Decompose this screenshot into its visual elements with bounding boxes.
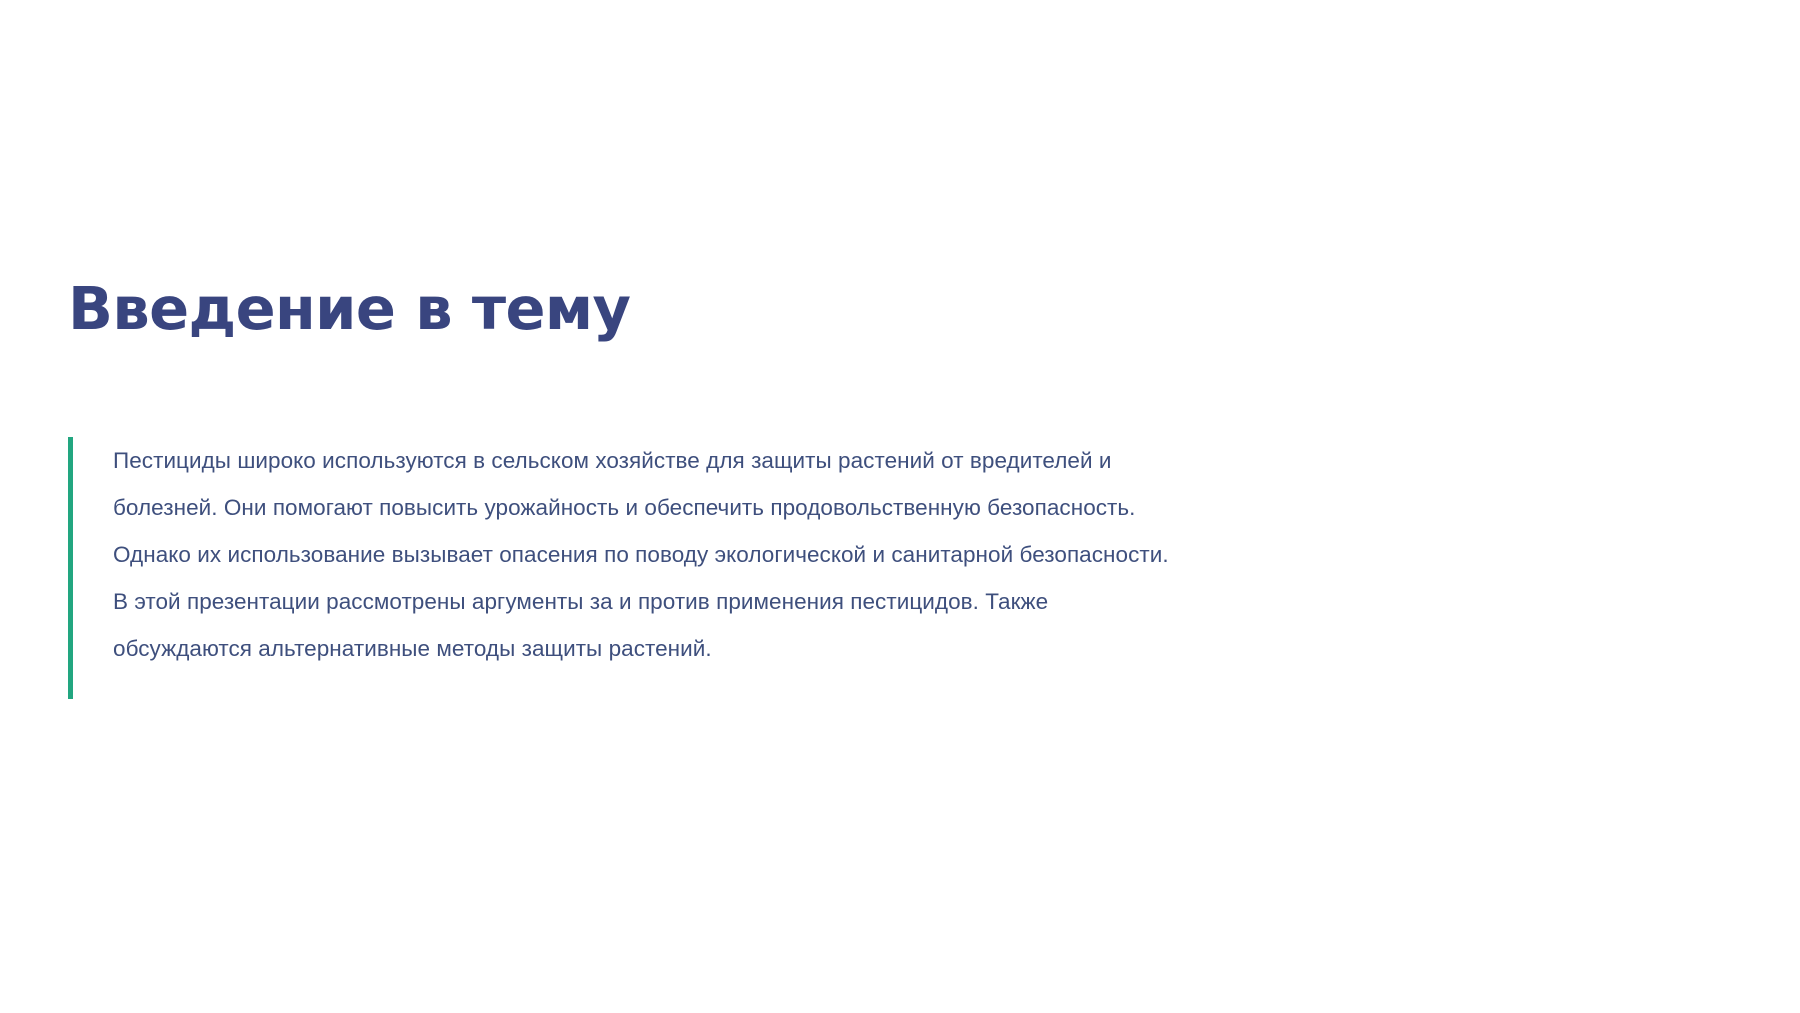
body-block: Пестициды широко используются в сельском… bbox=[68, 437, 1708, 699]
body-line: Пестициды широко используются в сельском… bbox=[113, 437, 1708, 484]
body-line: обсуждаются альтернативные методы защиты… bbox=[113, 625, 1708, 672]
body-line: болезней. Они помогают повысить урожайно… bbox=[113, 484, 1708, 531]
body-paragraph: Пестициды широко используются в сельском… bbox=[73, 437, 1708, 699]
slide-canvas: Введение в тему Пестициды широко использ… bbox=[0, 0, 1800, 1013]
page-title: Введение в тему bbox=[68, 276, 630, 342]
body-line: Однако их использование вызывает опасени… bbox=[113, 531, 1708, 578]
body-line: В этой презентации рассмотрены аргументы… bbox=[113, 578, 1708, 625]
